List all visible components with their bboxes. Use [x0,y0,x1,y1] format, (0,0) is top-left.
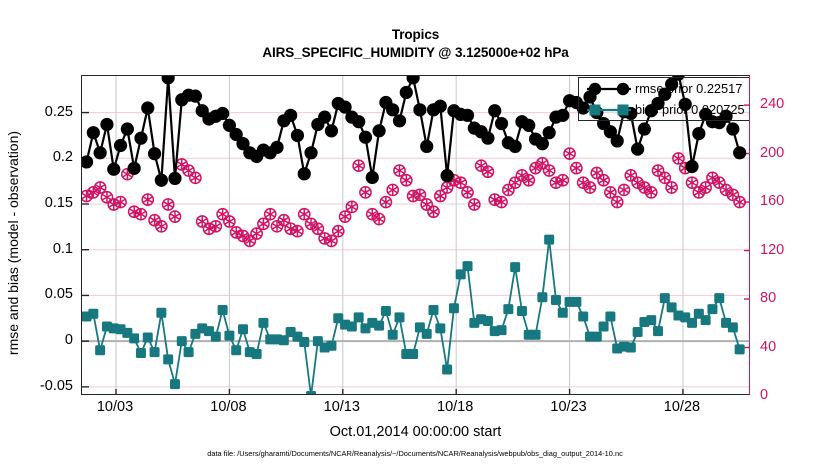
bias-prior-marker [653,326,663,336]
series-bias-prior [82,235,745,394]
rmse-prior-marker [162,76,175,84]
legend-item-bias: bias prior 0.020725 [579,99,749,121]
rmse-prior-marker [638,122,651,135]
rmse-prior-marker [481,132,494,145]
bias-prior-marker [497,325,507,335]
bias-prior-marker [599,322,609,332]
x-axis-tick-label: 10/08 [210,399,246,415]
bias-prior-marker [510,262,520,272]
bias-prior-marker [88,309,98,319]
bias-prior-marker [354,312,364,322]
bias-prior-marker [646,315,656,325]
rmse-prior-marker [692,127,705,140]
rmse-prior-marker [509,140,522,153]
rmse-prior-marker [441,169,454,182]
rmse-prior-marker [495,117,508,130]
bias-prior-marker [537,292,547,302]
legend-item-rmse: rmse prior 0.22517 [579,78,749,100]
rmse-prior-marker [189,90,202,103]
bias-prior-marker [177,336,187,346]
bias-prior-marker [95,345,105,355]
chart-title-region: Tropics [81,26,750,43]
y-axis-left-tick-label: 0.25 [45,104,73,120]
rmse-prior-marker [352,115,365,128]
rmse-prior-marker [82,155,93,168]
plot-area [81,75,750,395]
y-axis-left-tick-label: -0.05 [40,378,73,394]
bias-prior-marker [531,330,541,340]
chart-title-block: Tropics AIRS_SPECIFIC_HUMIDITY @ 3.12500… [81,26,750,62]
bias-prior-marker [592,332,602,342]
bias-prior-marker [347,322,357,332]
bias-prior-marker [442,364,452,374]
bias-prior-marker [558,308,568,318]
bias-prior-marker [156,308,166,318]
bias-prior-marker [299,337,309,347]
x-axis-tick-label: 10/23 [550,399,586,415]
bias-prior-line [87,240,740,394]
rmse-prior-marker [726,122,739,135]
bias-prior-marker [449,303,459,313]
bias-prior-marker [388,330,398,340]
rmse-prior-marker [121,122,134,135]
bias-prior-marker [408,349,418,359]
rmse-prior-marker [434,100,447,113]
series-obs-count [82,148,745,246]
rmse-prior-marker [413,103,426,116]
y-axis-right-tick-label: 120 [760,242,784,258]
y-axis-left-tick-label: 0 [65,332,73,348]
bias-prior-marker [143,332,153,342]
rmse-prior-marker [284,109,297,122]
rmse-prior-marker [386,103,399,116]
legend-marker-bias-icon [585,99,633,121]
rmse-prior-marker [114,139,127,152]
bias-prior-marker [660,293,670,303]
y-axis-right-tick-label: 160 [760,193,784,209]
x-axis-tick-label: 10/18 [437,399,473,415]
rmse-prior-marker [155,174,168,187]
chart-title-variable: AIRS_SPECIFIC_HUMIDITY @ 3.125000e+02 hP… [81,43,750,62]
rmse-prior-marker [291,129,304,142]
bias-prior-marker [605,311,615,321]
rmse-prior-marker [325,124,338,137]
legend-marker-rmse-icon [585,78,633,100]
rmse-prior-marker [298,167,311,180]
rmse-prior-marker [318,111,331,124]
x-axis-tick-label: 10/13 [324,399,360,415]
bias-prior-marker [374,321,384,331]
rmse-prior-marker [372,124,385,137]
rmse-prior-marker [406,76,419,84]
bias-prior-marker [687,318,697,328]
y-axis-right-tick-label: 0 [760,387,768,403]
figure-canvas: Tropics AIRS_SPECIFIC_HUMIDITY @ 3.12500… [0,0,830,470]
rmse-prior-marker [359,131,372,144]
rmse-prior-marker [128,162,141,175]
bias-prior-marker [483,316,493,326]
rmse-prior-marker [366,171,379,184]
y-axis-left-tick-label: 0.15 [45,195,73,211]
bias-prior-marker [735,344,745,354]
bias-prior-marker [381,306,391,316]
bias-prior-marker [224,331,234,341]
rmse-prior-marker [107,163,120,176]
plot-svg [82,76,749,394]
x-axis-label: Oct.01,2014 00:00:00 start [81,424,750,440]
bias-prior-marker [626,343,636,353]
bias-prior-marker [544,235,554,245]
bias-prior-marker [701,315,711,325]
rmse-prior-marker [488,104,501,117]
rmse-prior-marker [270,141,283,154]
rmse-prior-marker [685,160,698,173]
rmse-prior-marker [148,147,161,160]
y-axis-left-tick-label: 0.05 [45,286,73,302]
bias-prior-marker [184,347,194,357]
y-axis-left-tick-label: 0.1 [53,241,73,257]
rmse-prior-marker [536,137,549,150]
rmse-prior-marker [631,143,644,156]
legend-label-bias: bias prior 0.020725 [635,102,745,117]
x-axis-tick-label: 10/03 [97,399,133,415]
bias-prior-marker [463,261,473,271]
rmse-prior-marker [556,109,569,122]
bias-prior-marker [394,312,404,322]
bias-prior-marker [211,332,221,342]
rmse-prior-marker [216,107,229,120]
rmse-prior-marker [100,118,113,131]
bias-prior-marker [170,379,180,389]
rmse-prior-marker [420,140,433,153]
bias-prior-marker [571,297,581,307]
plot-inner [82,76,749,394]
y-axis-right-tick-label: 240 [760,96,784,112]
rmse-prior-marker [94,146,107,159]
bias-prior-marker [136,348,146,358]
rmse-prior-marker [522,119,535,132]
bias-prior-marker [163,354,173,364]
rmse-prior-marker [611,134,624,147]
bias-prior-marker [551,295,561,305]
bias-prior-marker [714,293,724,303]
bias-prior-marker [578,311,588,321]
bias-prior-marker [150,347,160,357]
rmse-prior-marker [733,146,746,159]
x-axis-tick-label: 10/28 [664,399,700,415]
bias-prior-marker [435,323,445,333]
bias-prior-marker [707,304,717,314]
bias-prior-marker [422,329,432,339]
bias-prior-marker [503,304,513,314]
bias-prior-marker [633,327,643,337]
bias-prior-marker [238,324,248,334]
y-axis-left-tick-label: 0.2 [53,149,73,165]
y-axis-right-tick-label: 200 [760,145,784,161]
bias-prior-marker [728,322,738,332]
bias-prior-marker [218,305,228,315]
rmse-prior-marker [461,109,474,122]
rmse-prior-marker [393,114,406,127]
bias-prior-marker [517,306,527,316]
y-axis-left-label: rmse and bias (model - observation) [5,78,21,408]
bias-prior-marker [258,318,268,328]
legend-label-rmse: rmse prior 0.22517 [635,81,742,96]
rmse-prior-marker [400,86,413,99]
rmse-prior-marker [134,132,147,145]
bias-prior-marker [429,305,439,315]
rmse-prior-marker [304,146,317,159]
bias-prior-marker [231,345,241,355]
rmse-prior-marker [168,172,181,185]
bias-prior-marker [306,391,316,394]
rmse-prior-marker [141,101,154,114]
data-file-footer: data file: /Users/gharamti/Documents/NCA… [0,449,830,458]
rmse-prior-marker [543,126,556,139]
bias-prior-marker [129,333,139,343]
bias-prior-marker [326,341,336,351]
y-axis-right-tick-label: 40 [760,339,776,355]
rmse-prior-marker [87,126,100,139]
bias-prior-marker [252,349,262,359]
y-axis-right-tick-label: 80 [760,290,776,306]
legend: rmse prior 0.22517 bias prior 0.020725 [578,77,749,121]
